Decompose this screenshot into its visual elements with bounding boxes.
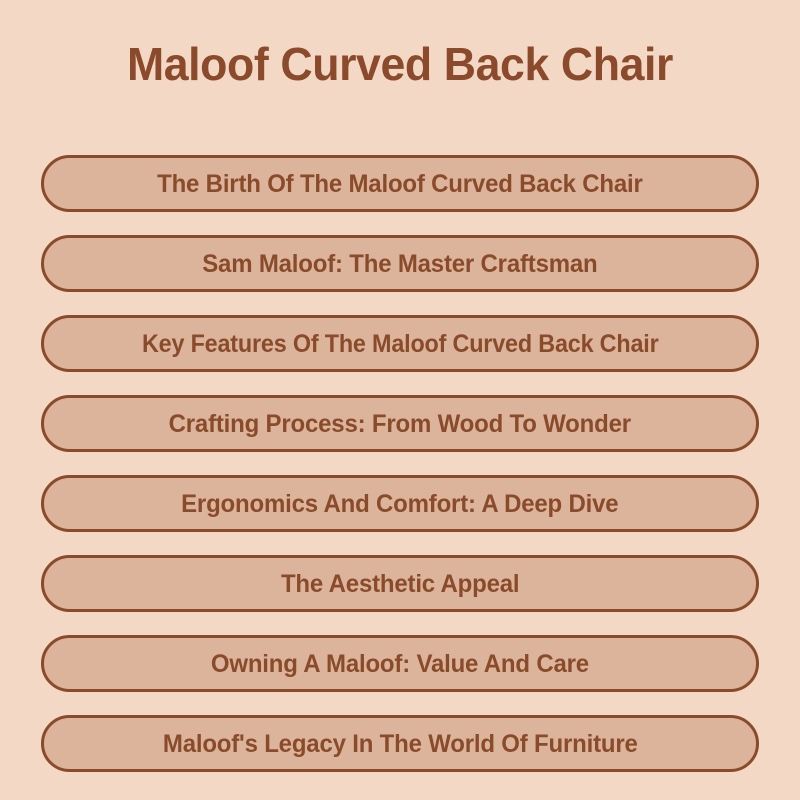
list-item[interactable]: Crafting Process: From Wood To Wonder <box>41 395 759 452</box>
list-item-label: The Birth Of The Maloof Curved Back Chai… <box>157 170 643 198</box>
list-item[interactable]: The Birth Of The Maloof Curved Back Chai… <box>41 155 759 212</box>
list-item-label: The Aesthetic Appeal <box>281 570 519 598</box>
list-item-label: Ergonomics And Comfort: A Deep Dive <box>181 490 618 518</box>
table-of-contents-list: The Birth Of The Maloof Curved Back Chai… <box>41 155 759 772</box>
list-item[interactable]: Ergonomics And Comfort: A Deep Dive <box>41 475 759 532</box>
list-item[interactable]: Maloof's Legacy In The World Of Furnitur… <box>41 715 759 772</box>
list-item[interactable]: The Aesthetic Appeal <box>41 555 759 612</box>
list-item-label: Key Features Of The Maloof Curved Back C… <box>142 330 659 358</box>
list-item-label: Owning A Maloof: Value And Care <box>211 650 589 678</box>
list-item-label: Maloof's Legacy In The World Of Furnitur… <box>163 730 638 758</box>
list-item[interactable]: Owning A Maloof: Value And Care <box>41 635 759 692</box>
infographic-canvas: Maloof Curved Back Chair The Birth Of Th… <box>0 0 800 800</box>
page-title: Maloof Curved Back Chair <box>12 36 788 92</box>
list-item[interactable]: Key Features Of The Maloof Curved Back C… <box>41 315 759 372</box>
list-item-label: Crafting Process: From Wood To Wonder <box>169 410 631 438</box>
list-item[interactable]: Sam Maloof: The Master Craftsman <box>41 235 759 292</box>
list-item-label: Sam Maloof: The Master Craftsman <box>202 250 597 278</box>
